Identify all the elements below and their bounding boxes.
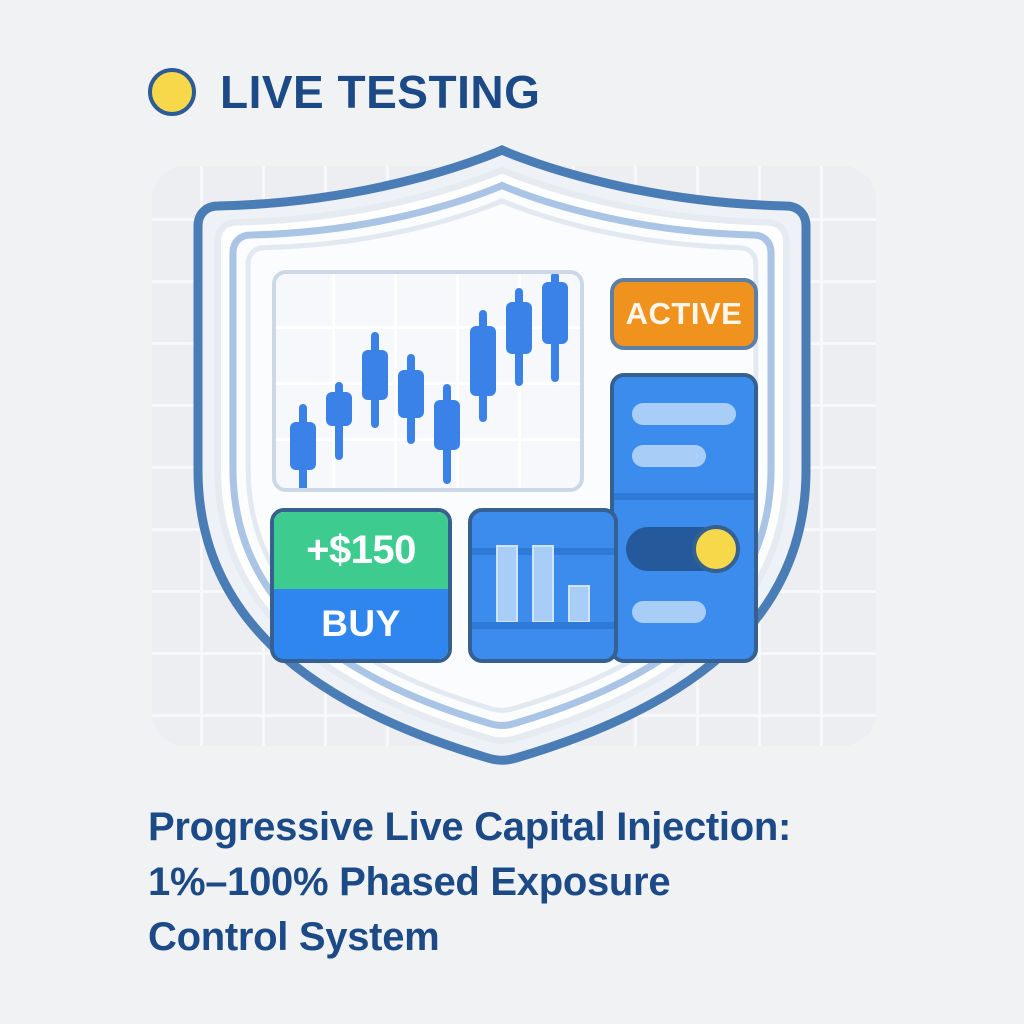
candlestick-1 xyxy=(290,274,316,492)
bar-2 xyxy=(532,545,554,623)
candle-body xyxy=(290,422,316,470)
caption: Progressive Live Capital Injection: 1%–1… xyxy=(148,800,938,966)
candle-body xyxy=(434,400,460,450)
candle-body xyxy=(470,326,496,396)
candlestick-chart-panel xyxy=(272,270,584,492)
exposure-toggle-knob[interactable] xyxy=(692,525,740,573)
candlestick-2 xyxy=(326,274,352,492)
panel-divider-bottom xyxy=(472,622,614,629)
illustration-canvas: LIVE TESTING xyxy=(0,0,1024,1024)
buy-button[interactable]: BUY xyxy=(274,589,448,659)
candle-body xyxy=(542,282,568,344)
panel-divider xyxy=(614,493,754,500)
bar-3 xyxy=(568,585,590,623)
page-title: LIVE TESTING xyxy=(220,69,540,115)
caption-line-1: Progressive Live Capital Injection: xyxy=(148,800,938,855)
candlestick-8 xyxy=(542,274,568,492)
trade-ticket: +$150 BUY xyxy=(270,508,452,663)
setting-row-2 xyxy=(632,445,706,467)
candlestick-5 xyxy=(434,274,460,492)
candle-body xyxy=(326,392,352,426)
setting-row-3 xyxy=(632,601,706,623)
setting-row-1 xyxy=(632,403,736,425)
candle-body xyxy=(398,370,424,418)
volume-bars-panel xyxy=(468,508,618,663)
caption-line-2: 1%–100% Phased Exposure xyxy=(148,855,938,910)
candlestick-7 xyxy=(506,274,532,492)
candlestick-6 xyxy=(470,274,496,492)
caption-line-3: Control System xyxy=(148,910,938,965)
candle-body xyxy=(362,350,388,400)
candlestick-3 xyxy=(362,274,388,492)
status-badge[interactable]: ACTIVE xyxy=(610,278,758,350)
candle-body xyxy=(506,302,532,354)
candlestick-4 xyxy=(398,274,424,492)
candlestick-series xyxy=(276,274,580,488)
settings-panel xyxy=(610,373,758,663)
bar-1 xyxy=(496,545,518,623)
live-indicator-dot xyxy=(148,68,196,116)
profit-amount: +$150 xyxy=(274,512,448,589)
header: LIVE TESTING xyxy=(148,64,540,120)
